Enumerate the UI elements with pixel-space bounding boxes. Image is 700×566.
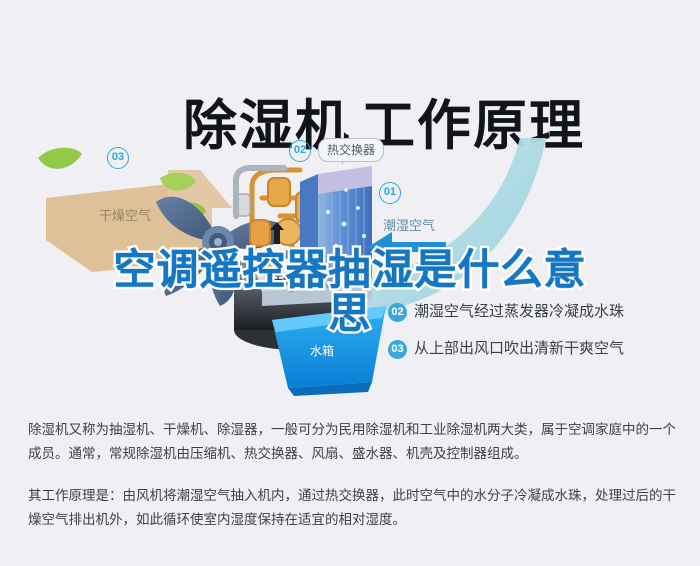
label-compressor: 压缩机 xyxy=(272,272,305,288)
moist-air-band-shape xyxy=(352,138,546,316)
badge-03-scene: 03 xyxy=(107,147,129,169)
infographic-page: 除湿机工作原理 xyxy=(0,0,700,566)
badge-01-scene: 01 xyxy=(379,182,401,204)
label-dry-air: 干燥空气 xyxy=(99,205,151,224)
legend-list: 02 潮湿空气经过蒸发器冷凝成水珠 03 从上部出风口吹出清新干爽空气 xyxy=(388,300,688,374)
legend-badge-02: 02 xyxy=(388,303,407,322)
legend-item: 02 潮湿空气经过蒸发器冷凝成水珠 xyxy=(388,300,688,337)
paragraph-principle: 其工作原理是：由风机将潮湿空气抽入机内，通过热交换器，此时空气中的水分子冷凝成水… xyxy=(28,484,676,532)
legend-text-02: 潮湿空气经过蒸发器冷凝成水珠 xyxy=(414,300,624,324)
legend-item: 03 从上部出风口吹出清新干爽空气 xyxy=(388,337,688,374)
label-water-tank: 水箱 xyxy=(310,342,334,359)
badge-02-scene: 02 xyxy=(289,140,311,162)
heat-exchanger-icon xyxy=(300,166,372,290)
callout-heat-exchanger: 热交换器 xyxy=(318,138,384,162)
legend-text-03: 从上部出风口吹出清新干爽空气 xyxy=(414,337,624,361)
label-moist-air: 潮湿空气 xyxy=(383,215,435,234)
paragraph-definition: 除湿机又称为抽湿机、干燥机、除湿器，一般可分为民用除湿机和工业除湿机两大类，属于… xyxy=(28,418,676,466)
legend-badge-03: 03 xyxy=(388,340,407,359)
